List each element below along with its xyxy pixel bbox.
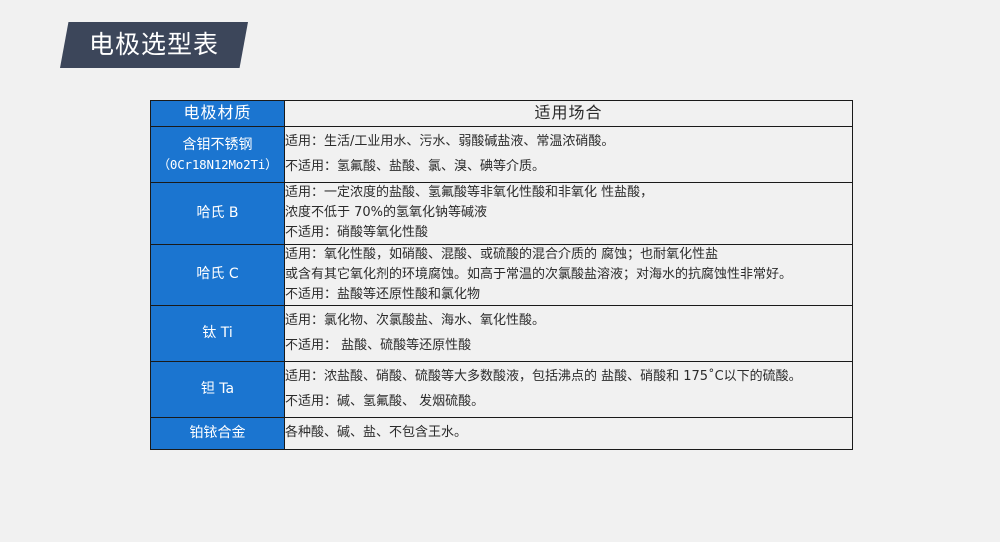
material-name: 含钼不锈钢 xyxy=(151,135,284,156)
table-row: 铂铱合金各种酸、碱、盐、不包含王水。 xyxy=(151,418,853,449)
material-cell: 哈氏 B xyxy=(151,183,285,244)
usage-line: 不适用：氢氟酸、盐酸、氯、溴、碘等介质。 xyxy=(285,157,852,177)
usage-line: 适用：生活/工业用水、污水、弱酸碱盐液、常温浓硝酸。 xyxy=(285,132,852,152)
usage-cell: 适用：浓盐酸、硝酸、硫酸等大多数酸液，包括沸点的 盐酸、硝酸和 175˚C以下的… xyxy=(285,362,853,418)
usage-cell: 各种酸、碱、盐、不包含王水。 xyxy=(285,418,853,449)
usage-line: 或含有其它氧化剂的环境腐蚀。如高于常温的次氯酸盐溶液；对海水的抗腐蚀性非常好。 xyxy=(285,265,852,285)
usage-line: 浓度不低于 70%的氢氧化钠等碱液 xyxy=(285,203,852,223)
usage-line: 不适用： 盐酸、硫酸等还原性酸 xyxy=(285,336,852,356)
table-row: 钽 Ta适用：浓盐酸、硝酸、硫酸等大多数酸液，包括沸点的 盐酸、硝酸和 175˚… xyxy=(151,362,853,418)
material-name: 钽 Ta xyxy=(151,379,284,400)
usage-line: 适用：氧化性酸，如硝酸、混酸、或硫酸的混合介质的 腐蚀；也耐氧化性盐 xyxy=(285,245,852,265)
material-cell: 钽 Ta xyxy=(151,362,285,418)
table-row: 哈氏 B适用：一定浓度的盐酸、氢氟酸等非氧化性酸和非氧化 性盐酸，浓度不低于 7… xyxy=(151,183,853,244)
usage-cell: 适用：氧化性酸，如硝酸、混酸、或硫酸的混合介质的 腐蚀；也耐氧化性盐或含有其它氧… xyxy=(285,244,853,305)
usage-line: 各种酸、碱、盐、不包含王水。 xyxy=(285,423,852,443)
material-name: 钛 Ti xyxy=(151,323,284,344)
table-row: 钛 Ti适用：氯化物、次氯酸盐、海水、氧化性酸。不适用： 盐酸、硫酸等还原性酸 xyxy=(151,305,853,361)
header-cell-material: 电极材质 xyxy=(151,101,285,127)
material-cell: 哈氏 C xyxy=(151,244,285,305)
usage-cell: 适用：氯化物、次氯酸盐、海水、氧化性酸。不适用： 盐酸、硫酸等还原性酸 xyxy=(285,305,853,361)
usage-cell: 适用：一定浓度的盐酸、氢氟酸等非氧化性酸和非氧化 性盐酸，浓度不低于 70%的氢… xyxy=(285,183,853,244)
usage-line: 不适用：盐酸等还原性酸和氯化物 xyxy=(285,285,852,305)
table-header-row: 电极材质 适用场合 xyxy=(151,101,853,127)
electrode-selection-table: 电极材质 适用场合 含钼不锈钢（0Cr18N12Mo2Ti）适用：生活/工业用水… xyxy=(150,100,853,450)
usage-line: 适用：浓盐酸、硝酸、硫酸等大多数酸液，包括沸点的 盐酸、硝酸和 175˚C以下的… xyxy=(285,367,852,387)
usage-cell: 适用：生活/工业用水、污水、弱酸碱盐液、常温浓硝酸。不适用：氢氟酸、盐酸、氯、溴… xyxy=(285,126,853,182)
usage-line: 适用：一定浓度的盐酸、氢氟酸等非氧化性酸和非氧化 性盐酸， xyxy=(285,183,852,203)
table-body: 电极材质 适用场合 含钼不锈钢（0Cr18N12Mo2Ti）适用：生活/工业用水… xyxy=(151,101,853,450)
usage-line: 适用：氯化物、次氯酸盐、海水、氧化性酸。 xyxy=(285,311,852,331)
header-cell-usage: 适用场合 xyxy=(285,101,853,127)
usage-line: 不适用：碱、氢氟酸、 发烟硫酸。 xyxy=(285,392,852,412)
usage-line: 不适用：硝酸等氧化性酸 xyxy=(285,223,852,243)
page-title: 电极选型表 xyxy=(60,22,248,68)
material-name: 铂铱合金 xyxy=(151,423,284,444)
table-row: 含钼不锈钢（0Cr18N12Mo2Ti）适用：生活/工业用水、污水、弱酸碱盐液、… xyxy=(151,126,853,182)
material-cell: 铂铱合金 xyxy=(151,418,285,449)
material-name: 哈氏 B xyxy=(151,203,284,224)
table-row: 哈氏 C适用：氧化性酸，如硝酸、混酸、或硫酸的混合介质的 腐蚀；也耐氧化性盐或含… xyxy=(151,244,853,305)
material-cell: 含钼不锈钢（0Cr18N12Mo2Ti） xyxy=(151,126,285,182)
material-code: （0Cr18N12Mo2Ti） xyxy=(151,156,284,175)
page-title-banner: 电极选型表 xyxy=(60,22,248,68)
material-cell: 钛 Ti xyxy=(151,305,285,361)
material-name: 哈氏 C xyxy=(151,264,284,285)
